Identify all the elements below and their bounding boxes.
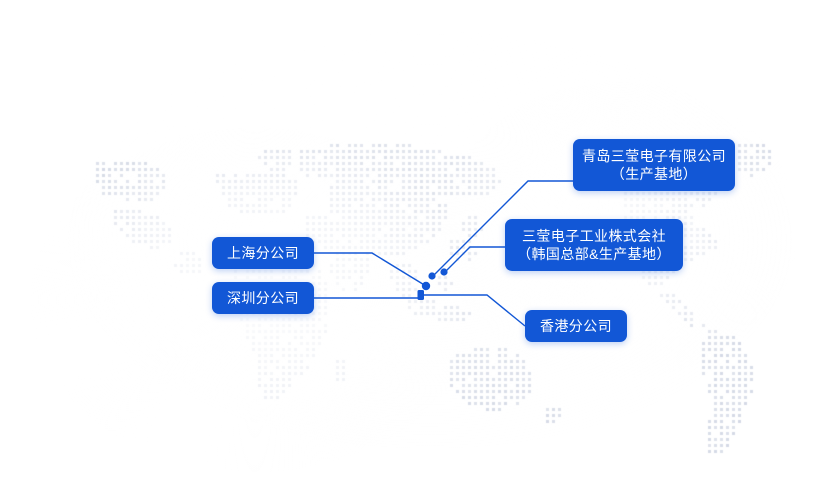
label-hongkong-line-1: 香港分公司 (540, 317, 612, 335)
label-qingdao-line-1: 青岛三莹电子有限公司 (582, 147, 726, 165)
label-korea-hq[interactable]: 三莹电子工业株式会社 （韩国总部&生产基地） (505, 219, 683, 271)
label-shanghai-line-1: 上海分公司 (227, 244, 299, 262)
label-qingdao-line-2: （生产基地） (611, 165, 697, 183)
label-korea-line-2: （韩国总部&生产基地） (517, 245, 671, 263)
connector-hongkong (420, 295, 525, 326)
label-shanghai[interactable]: 上海分公司 (212, 237, 314, 269)
connector-lines (0, 0, 824, 480)
label-hongkong[interactable]: 香港分公司 (525, 310, 627, 342)
connector-korea (444, 247, 505, 273)
marker-qingdao[interactable] (428, 272, 435, 279)
label-shenzhen[interactable]: 深圳分公司 (212, 282, 314, 314)
marker-korea[interactable] (440, 268, 447, 275)
connector-shanghai (314, 253, 426, 286)
marker-shanghai[interactable] (422, 282, 430, 290)
label-qingdao[interactable]: 青岛三莹电子有限公司 （生产基地） (573, 139, 735, 191)
world-map-infographic: 青岛三莹电子有限公司 （生产基地） 三莹电子工业株式会社 （韩国总部&生产基地）… (0, 0, 824, 480)
label-shenzhen-line-1: 深圳分公司 (227, 289, 299, 307)
marker-shenzhen-hongkong[interactable] (418, 290, 425, 300)
label-korea-line-1: 三莹电子工业株式会社 (522, 227, 666, 245)
